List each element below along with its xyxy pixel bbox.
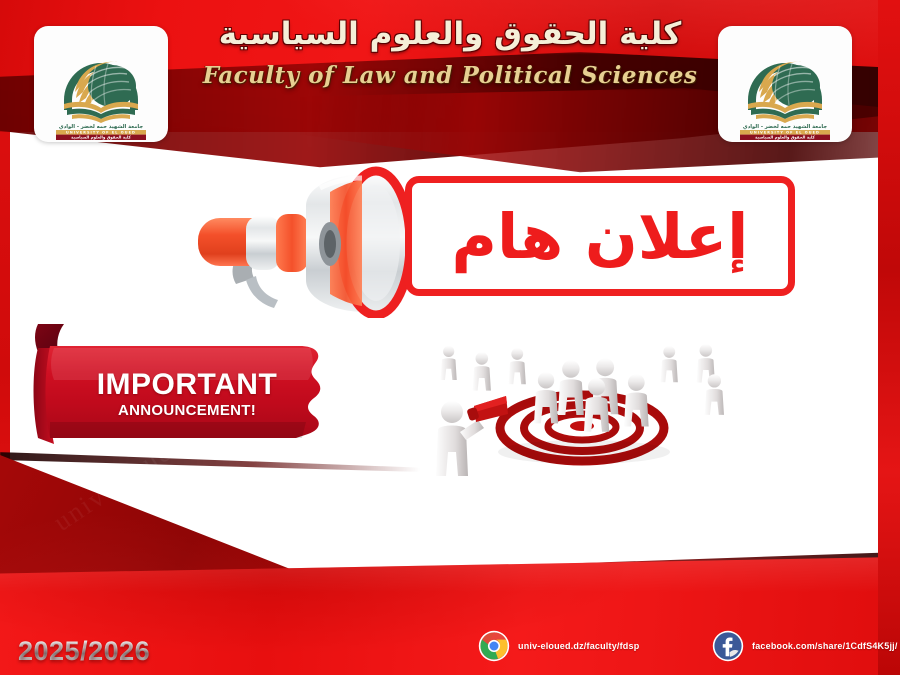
- logo-faculty-ar: كلية الحقوق والعلوم السياسية: [755, 135, 815, 140]
- facebook-url: facebook.com/share/1CdfS4K5jj/: [752, 641, 898, 651]
- chrome-icon: [478, 630, 510, 662]
- academic-year: 2025/2026: [18, 636, 150, 667]
- website-url: univ-eloued.dz/faculty/fdsp: [518, 641, 639, 651]
- headline-text-arabic: إعلان هام: [412, 188, 788, 284]
- website-link[interactable]: univ-eloued.dz/faculty/fdsp: [478, 630, 639, 662]
- faculty-title-english: Faculty of Law and Political Sciences: [0, 62, 900, 89]
- right-red-edge: [878, 0, 900, 675]
- logo-university-ar: جامعة الشهيد حمه لخضر - الوادي: [743, 124, 828, 130]
- facebook-icon: [712, 630, 744, 662]
- logo-university-ar: جامعة الشهيد حمه لخضر - الوادي: [59, 124, 144, 130]
- headline-group: إعلان هام: [180, 158, 810, 318]
- logo-faculty-ar: كلية الحقوق والعلوم السياسية: [71, 135, 131, 140]
- crowd-target-graphic: [412, 330, 752, 510]
- crowd-target-illustration: [412, 330, 752, 510]
- facebook-link[interactable]: facebook.com/share/1CdfS4K5jj/: [712, 630, 898, 662]
- important-announcement-ribbon: IMPORTANT ANNOUNCEMENT!: [20, 318, 350, 460]
- ribbon-shape: [20, 318, 350, 460]
- faculty-title-arabic: كلية الحقوق والعلوم السياسية: [0, 16, 900, 52]
- announcement-poster: univ-eloued univ-eloued: [0, 0, 900, 675]
